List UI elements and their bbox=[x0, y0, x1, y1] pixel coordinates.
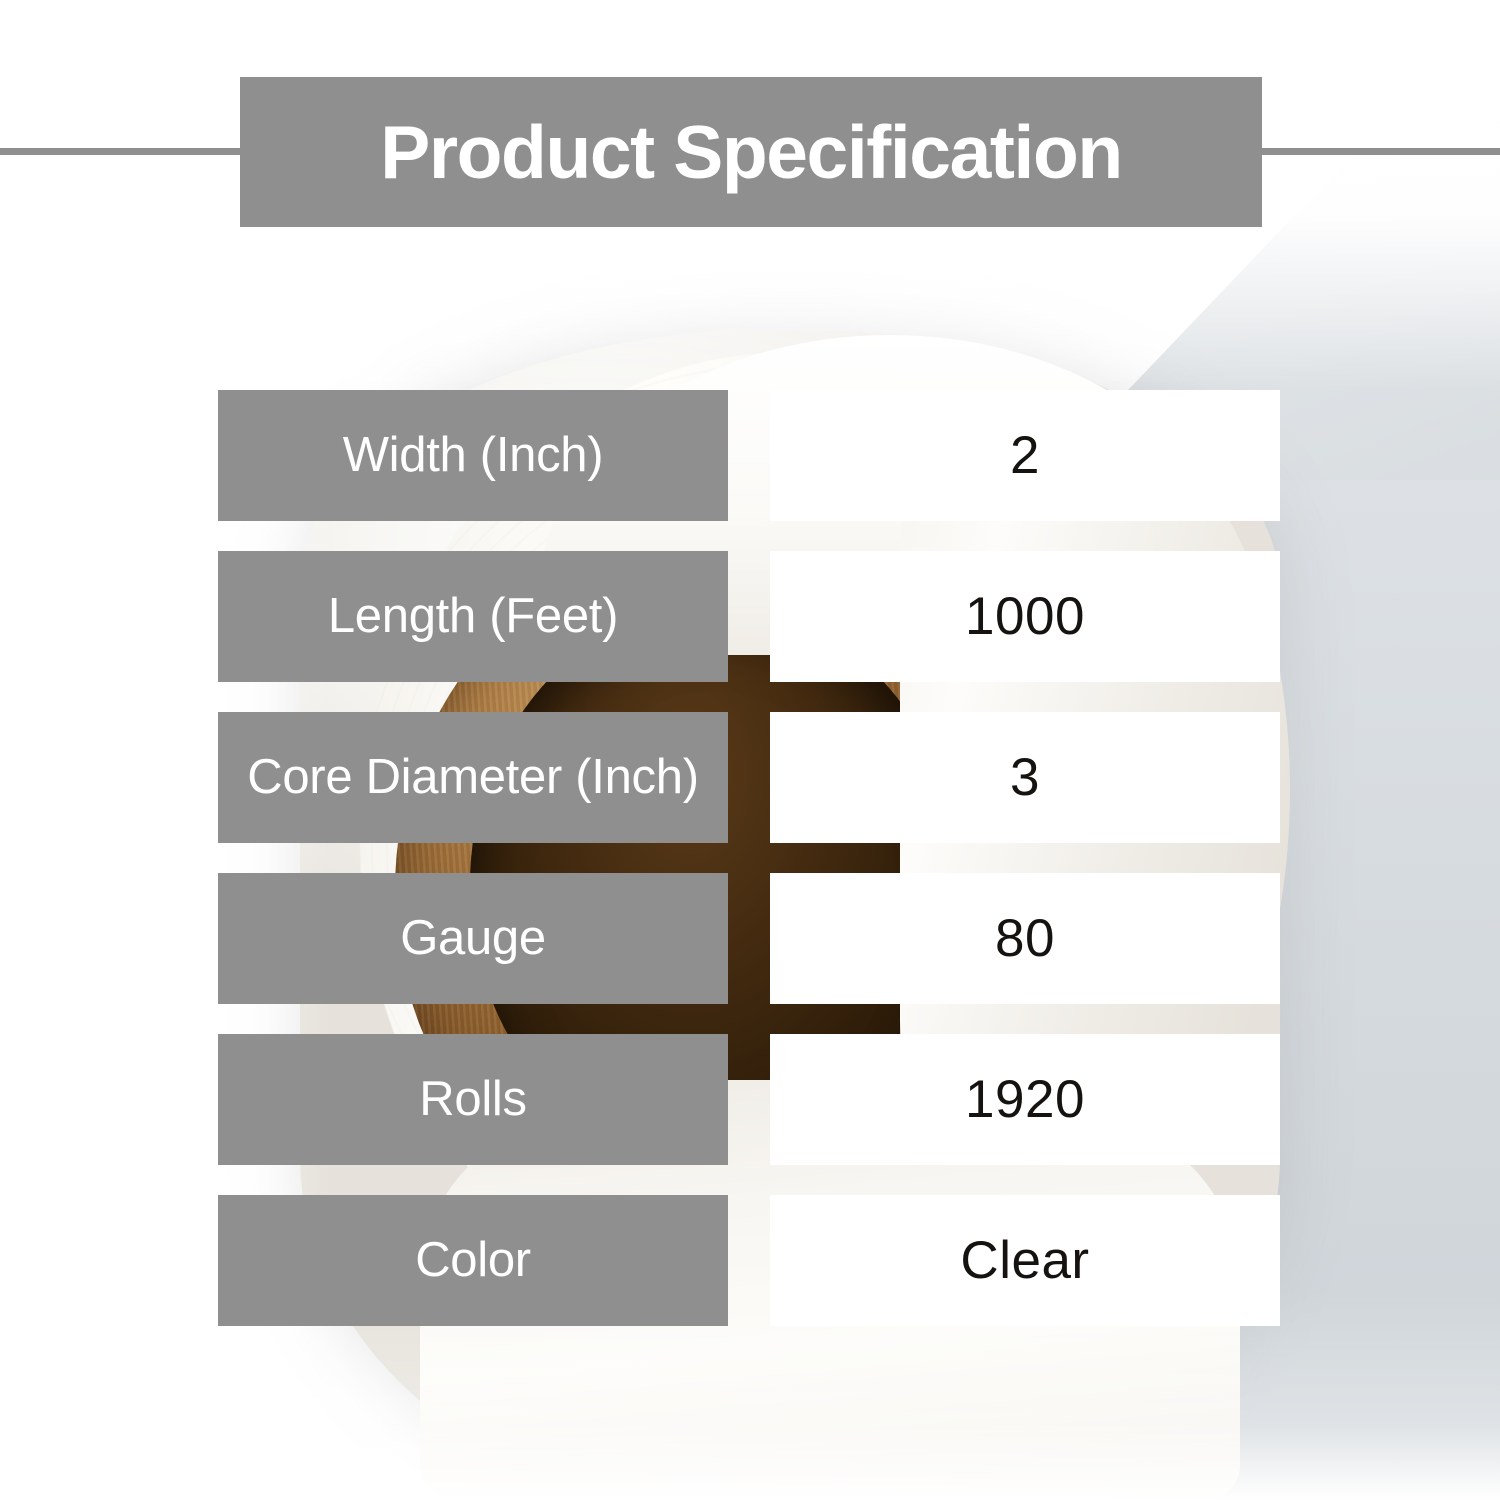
spec-value-text: 1920 bbox=[965, 1073, 1085, 1126]
spec-value-cell: 80 bbox=[770, 873, 1280, 1004]
spec-label-cell: Color bbox=[218, 1195, 728, 1326]
spec-label-text: Rolls bbox=[405, 1075, 540, 1125]
spec-value-cell: 1920 bbox=[770, 1034, 1280, 1165]
spec-value-text: 2 bbox=[1010, 429, 1040, 482]
spec-label-cell: Core Diameter (Inch) bbox=[218, 712, 728, 843]
spec-label-cell: Rolls bbox=[218, 1034, 728, 1165]
table-row: Rolls 1920 bbox=[0, 1034, 1500, 1165]
spec-value-cell: Clear bbox=[770, 1195, 1280, 1326]
spec-value-text: Clear bbox=[960, 1234, 1089, 1287]
table-row: Length (Feet) 1000 bbox=[0, 551, 1500, 682]
spec-value-text: 80 bbox=[995, 912, 1055, 965]
spec-value-cell: 3 bbox=[770, 712, 1280, 843]
table-row: Color Clear bbox=[0, 1195, 1500, 1326]
page-header: Product Specification bbox=[0, 0, 1500, 300]
table-row: Gauge 80 bbox=[0, 873, 1500, 1004]
spec-label-cell: Gauge bbox=[218, 873, 728, 1004]
spec-label-text: Length (Feet) bbox=[314, 592, 632, 642]
spec-label-cell: Length (Feet) bbox=[218, 551, 728, 682]
spec-value-text: 3 bbox=[1010, 751, 1040, 804]
spec-label-text: Gauge bbox=[386, 914, 560, 964]
spec-value-text: 1000 bbox=[965, 590, 1085, 643]
header-title-plate: Product Specification bbox=[240, 77, 1262, 227]
spec-label-text: Width (Inch) bbox=[329, 431, 618, 481]
page-title: Product Specification bbox=[380, 115, 1122, 190]
spec-label-text: Color bbox=[401, 1236, 545, 1286]
spec-label-cell: Width (Inch) bbox=[218, 390, 728, 521]
table-row: Core Diameter (Inch) 3 bbox=[0, 712, 1500, 843]
spec-value-cell: 1000 bbox=[770, 551, 1280, 682]
spec-value-cell: 2 bbox=[770, 390, 1280, 521]
spec-label-text: Core Diameter (Inch) bbox=[233, 753, 712, 802]
table-row: Width (Inch) 2 bbox=[0, 390, 1500, 521]
